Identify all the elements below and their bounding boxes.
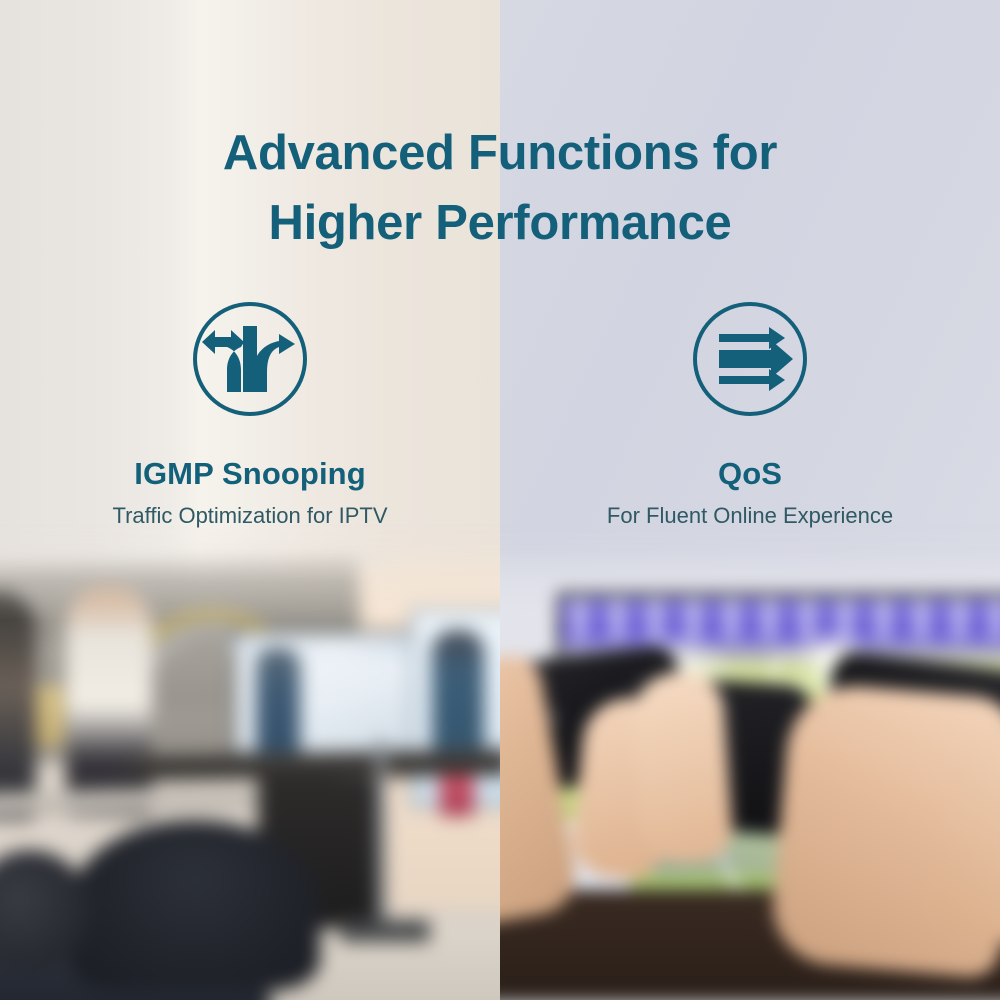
feature-subtitle: For Fluent Online Experience — [607, 502, 893, 530]
feature-qos: QoS For Fluent Online Experience — [500, 300, 1000, 530]
feature-title: IGMP Snooping — [134, 456, 365, 492]
feature-subtitle: Traffic Optimization for IPTV — [112, 502, 387, 530]
three-arrows-icon — [691, 300, 809, 418]
branching-arrows-icon — [191, 300, 309, 418]
feature-list: IGMP Snooping Traffic Optimization for I… — [0, 300, 1000, 530]
feature-title: QoS — [718, 456, 782, 492]
page-title: Advanced Functions for Higher Performanc… — [0, 118, 1000, 258]
photo-gaming-tv-scene — [500, 520, 1000, 1000]
promo-banner: Advanced Functions for Higher Performanc… — [0, 0, 1000, 1000]
page-title-line-2: Higher Performance — [0, 188, 1000, 258]
page-title-line-1: Advanced Functions for — [0, 118, 1000, 188]
feature-igmp-snooping: IGMP Snooping Traffic Optimization for I… — [0, 300, 500, 530]
photo-office-iptv-scene — [0, 520, 500, 1000]
